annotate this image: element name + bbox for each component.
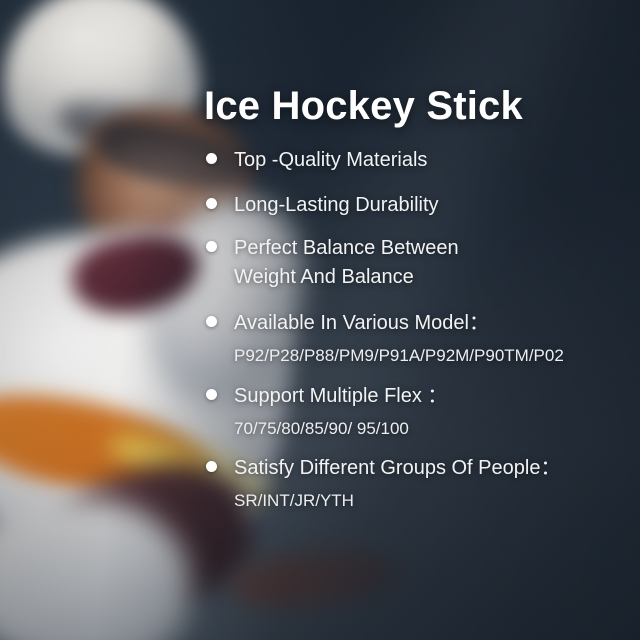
- feature-subtext: SR/INT/JR/YTH: [234, 488, 634, 514]
- bullet-icon: [206, 241, 217, 252]
- list-item: Long-Lasting Durability: [204, 191, 634, 220]
- list-item: Support Multiple Flex ： 70/75/80/85/90/ …: [204, 382, 634, 442]
- product-poster: Ice Hockey Stick Top -Quality Materials …: [0, 0, 640, 640]
- page-title: Ice Hockey Stick: [204, 84, 523, 129]
- bullet-icon: [206, 316, 217, 327]
- bullet-icon: [206, 389, 217, 400]
- list-item: Perfect Balance Between Weight And Balan…: [204, 234, 634, 292]
- feature-text: Support Multiple Flex ：: [234, 382, 634, 411]
- bullet-icon: [206, 198, 217, 209]
- bullet-icon: [206, 153, 217, 164]
- feature-text: Perfect Balance Between Weight And Balan…: [234, 234, 634, 292]
- feature-list: Top -Quality Materials Long-Lasting Dura…: [204, 146, 634, 514]
- feature-text: Long-Lasting Durability: [234, 191, 634, 220]
- feature-subtext: P92/P28/P88/PM9/P91A/P92M/P90TM/P02: [234, 343, 634, 369]
- list-item: Top -Quality Materials: [204, 146, 634, 175]
- list-item: Satisfy Different Groups Of People： SR/I…: [204, 454, 634, 514]
- feature-subtext: 70/75/80/85/90/ 95/100: [234, 416, 634, 442]
- feature-text: Satisfy Different Groups Of People：: [234, 454, 634, 483]
- feature-text: Top -Quality Materials: [234, 146, 634, 175]
- poster-content: Ice Hockey Stick Top -Quality Materials …: [0, 0, 640, 640]
- feature-text: Available In Various Model：: [234, 309, 634, 338]
- bullet-icon: [206, 461, 217, 472]
- list-item: Available In Various Model： P92/P28/P88/…: [204, 309, 634, 369]
